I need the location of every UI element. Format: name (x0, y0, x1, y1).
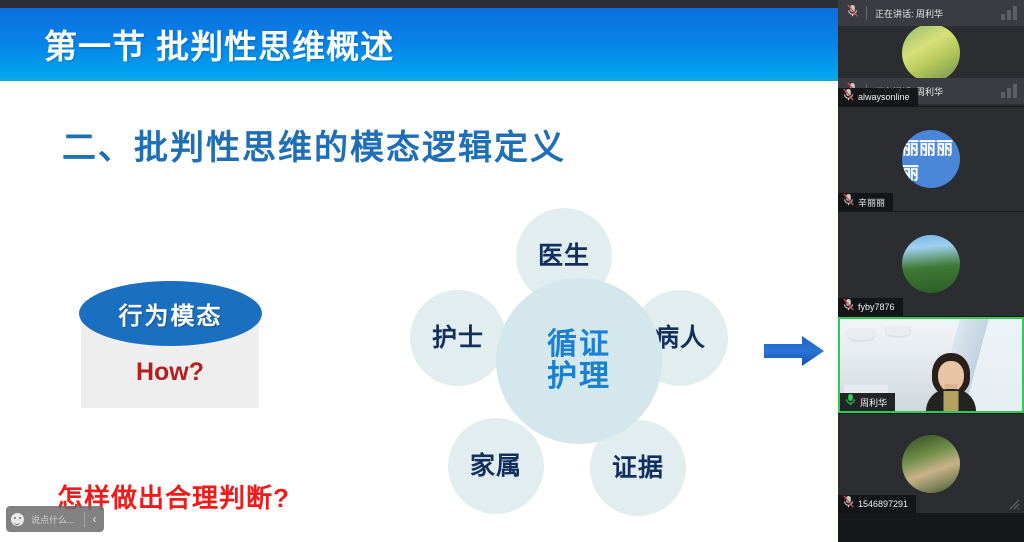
speaking-banner-top: 正在讲话: 周利华 (838, 0, 1024, 26)
volume-bars-icon (1001, 6, 1017, 20)
smiley-icon[interactable] (6, 506, 28, 532)
ceiling-lamp-icon (848, 329, 874, 340)
avatar-initials: 丽丽丽丽 (902, 134, 960, 184)
slide-title-band: 第一节 批判性思维概述 (0, 8, 838, 80)
avatar: 丽丽丽丽 (902, 130, 960, 188)
participant-name: fyby7876 (858, 302, 895, 312)
slide-heading: 二、批判性思维的模态逻辑定义 (62, 120, 566, 169)
participant-name-chip-1546897291: 1546897291 (838, 495, 916, 513)
presentation-slide[interactable]: 第一节 批判性思维概述 二、批判性思维的模态逻辑定义 行为模态 How? 怎样做… (0, 0, 838, 542)
participant-name: 辛丽丽 (858, 196, 885, 209)
avatar (902, 435, 960, 493)
participant-tile-zhoulihua-active[interactable]: 周利华 (838, 317, 1024, 413)
mic-muted-icon (843, 495, 854, 513)
participant-name-chip-fyby7876: fyby7876 (838, 298, 903, 316)
resize-grip-icon[interactable] (1006, 496, 1020, 510)
speaking-banner-top-text: 正在讲话: 周利华 (875, 7, 943, 20)
diagram-center-node: 循证 护理 (496, 278, 662, 444)
volume-bars-icon (1001, 84, 1017, 98)
comment-input[interactable]: 说点什么... (28, 513, 84, 526)
diagram-node-evidence-label: 证据 (612, 455, 664, 482)
slide-section-title: 第一节 批判性思维概述 (44, 20, 394, 68)
avatar (902, 24, 960, 82)
diagram-center-label: 循证 护理 (547, 329, 611, 394)
participant-name: 周利华 (860, 396, 887, 409)
mic-active-icon (845, 393, 856, 411)
ceiling-lamp-icon (886, 326, 910, 336)
participant-tile-fyby7876[interactable]: fyby7876 (838, 212, 1024, 316)
participant-name-chip-alwaysonline: alwaysonline (838, 88, 918, 106)
mic-muted-icon (843, 298, 854, 316)
participant-tile-xinlili[interactable]: 丽丽丽丽 辛丽丽 (838, 107, 1024, 211)
mic-muted-icon (843, 88, 854, 106)
evidence-nursing-diagram: 医生 护士 病人 家属 证据 循证 护理 (398, 198, 748, 518)
diagram-center-line1: 循证 (547, 329, 611, 361)
diagram-node-patient-label: 病人 (654, 325, 706, 352)
mic-muted-icon (847, 4, 858, 22)
diagram-node-family-label: 家属 (470, 453, 522, 480)
callout-oval: 行为模态 (79, 281, 262, 346)
comment-bar[interactable]: 说点什么... ‹ (6, 506, 104, 532)
title-underline (0, 78, 838, 81)
diagram-node-family: 家属 (448, 418, 544, 514)
avatar (902, 235, 960, 293)
diagram-node-doctor-label: 医生 (538, 243, 590, 270)
diagram-center-line2: 护理 (547, 361, 611, 393)
chevron-left-icon[interactable]: ‹ (85, 512, 104, 526)
banner-divider (866, 6, 867, 20)
diagram-node-nurse-label: 护士 (432, 325, 484, 352)
callout-sub-label: How? (81, 358, 259, 387)
participant-name: alwaysonline (858, 92, 910, 102)
participant-tile-1546897291[interactable]: 1546897291 (838, 414, 1024, 513)
participant-name-chip-xinlili: 辛丽丽 (838, 193, 893, 211)
callout-oval-label: 行为模态 (119, 296, 223, 331)
video-participants-sidebar[interactable]: 正在讲话: 周利华 alwaysonline (838, 0, 1024, 542)
diagram-node-nurse: 护士 (410, 290, 506, 386)
screen-root: 第一节 批判性思维概述 二、批判性思维的模态逻辑定义 行为模态 How? 怎样做… (0, 0, 1024, 542)
mic-muted-icon (843, 193, 854, 211)
top-dark-strip (0, 0, 838, 8)
participant-name: 1546897291 (858, 499, 908, 509)
participant-tile-alwaysonline[interactable]: 正在讲话: 周利华 alwaysonline (838, 0, 1024, 106)
right-arrow-icon (764, 334, 826, 368)
participant-video-person (924, 353, 978, 411)
participant-name-chip-zhoulihua: 周利华 (840, 393, 895, 411)
